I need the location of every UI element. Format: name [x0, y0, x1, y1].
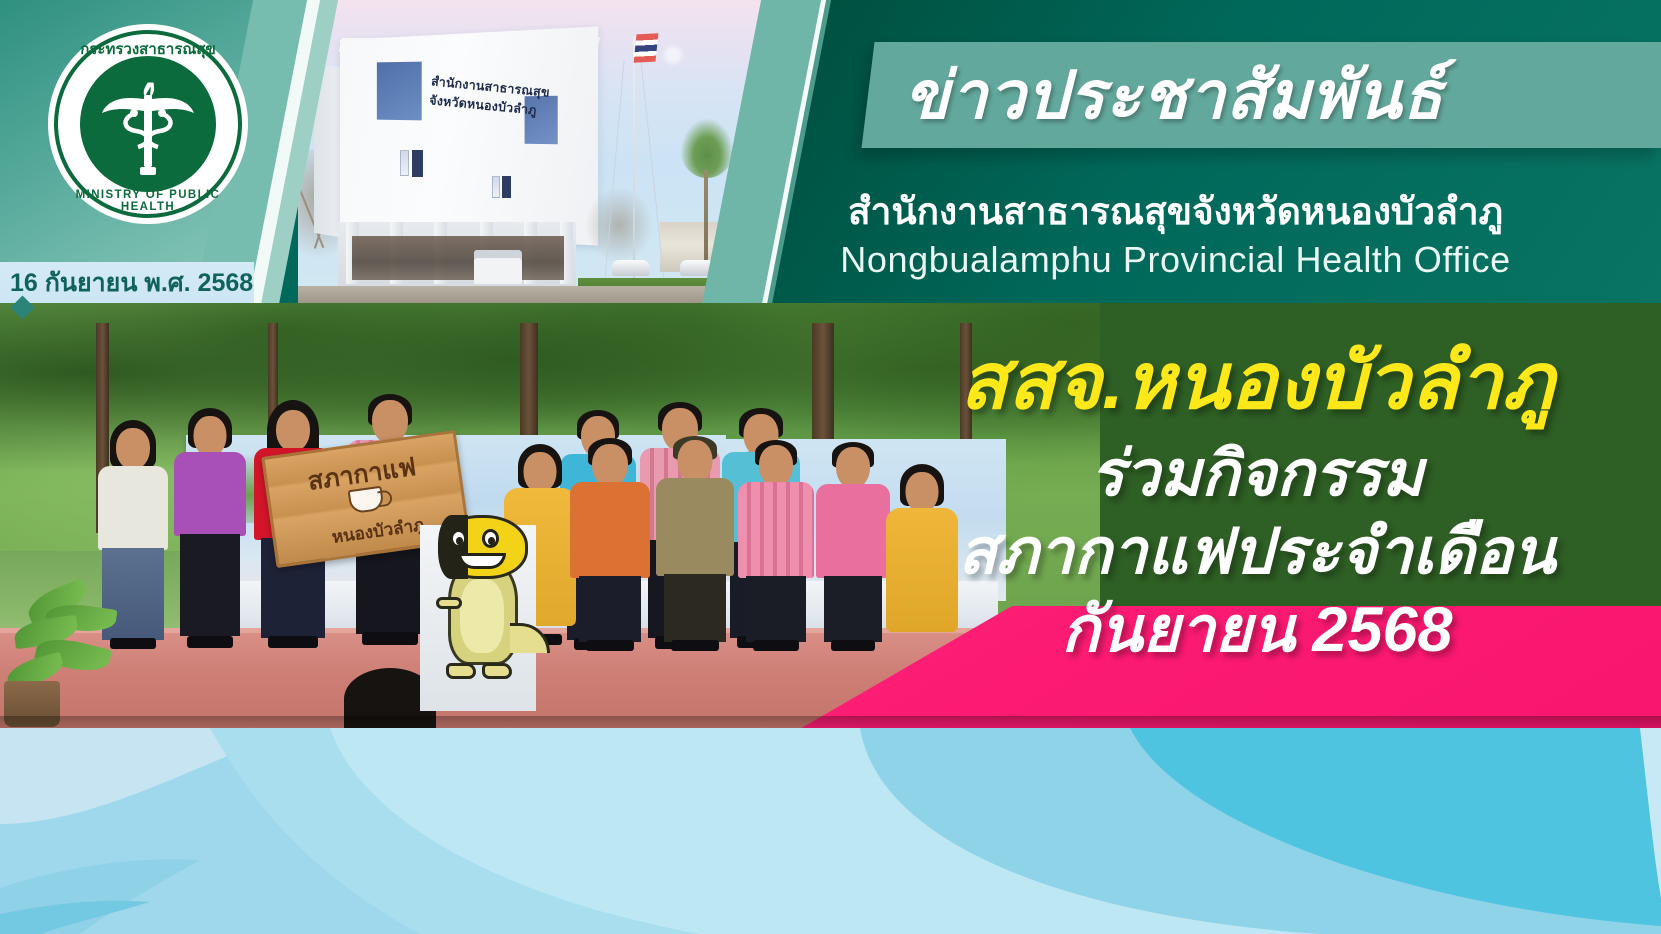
headline-line-1: สสจ.หนองบัวลำภู: [862, 342, 1652, 420]
building-window: [400, 150, 409, 176]
headline-line-3: สภากาแฟประจำเดือน: [862, 521, 1652, 584]
header-bar: สำนักงานสาธารณสุข จังหวัดหนองบัวลำภู: [0, 0, 1661, 303]
moph-logo: กระทรวงสาธารณสุข MINISTRY OF PUBLIC HEAL…: [48, 24, 248, 224]
footer-wave-decoration: [0, 728, 1661, 934]
headline-line-2: ร่วมกิจกรรม: [862, 443, 1652, 506]
person-11: [734, 440, 818, 652]
news-banner-label: ข่าวประชาสัมพันธ์: [904, 62, 1444, 128]
coffee-cup-icon: [348, 486, 385, 514]
dinosaur-mascot: [424, 513, 552, 713]
logo-english-text: MINISTRY OF PUBLIC HEALTH: [48, 189, 248, 213]
mascot-arm: [436, 597, 462, 609]
mascot-eye-right: [482, 529, 499, 548]
sun-glare: [664, 46, 682, 64]
building-window: [412, 150, 423, 177]
office-name-thai: สำนักงานสาธารณสุขจังหวัดหนองบัวลำภู: [0, 182, 1661, 241]
caduceus-icon: [98, 69, 198, 179]
news-banner: ข่าวประชาสัมพันธ์: [861, 42, 1661, 148]
person-2: [170, 408, 250, 652]
headline-line-4: กันยายน 2568: [862, 599, 1652, 662]
logo-thai-text: กระทรวงสาธารณสุข: [48, 37, 248, 61]
thai-flag: [634, 33, 659, 62]
date-badge-label: 16 กันยายน พ.ศ. 2568: [10, 263, 253, 303]
sign-bottom-text: หนองบัวลำภู: [330, 511, 426, 551]
building-window-panel-left: [377, 62, 422, 121]
date-badge: 16 กันยายน พ.ศ. 2568: [0, 262, 254, 303]
person-10-police: [652, 436, 738, 652]
person-9: [566, 438, 654, 652]
ground: [298, 286, 768, 303]
footer-waves-svg: [0, 728, 1661, 934]
poster-root: สำนักงานสาธารณสุข จังหวัดหนองบัวลำภู: [0, 0, 1661, 934]
mascot-eye-left: [450, 529, 467, 548]
palm-tree-crown: [680, 118, 734, 178]
mascot-tail: [510, 623, 550, 653]
